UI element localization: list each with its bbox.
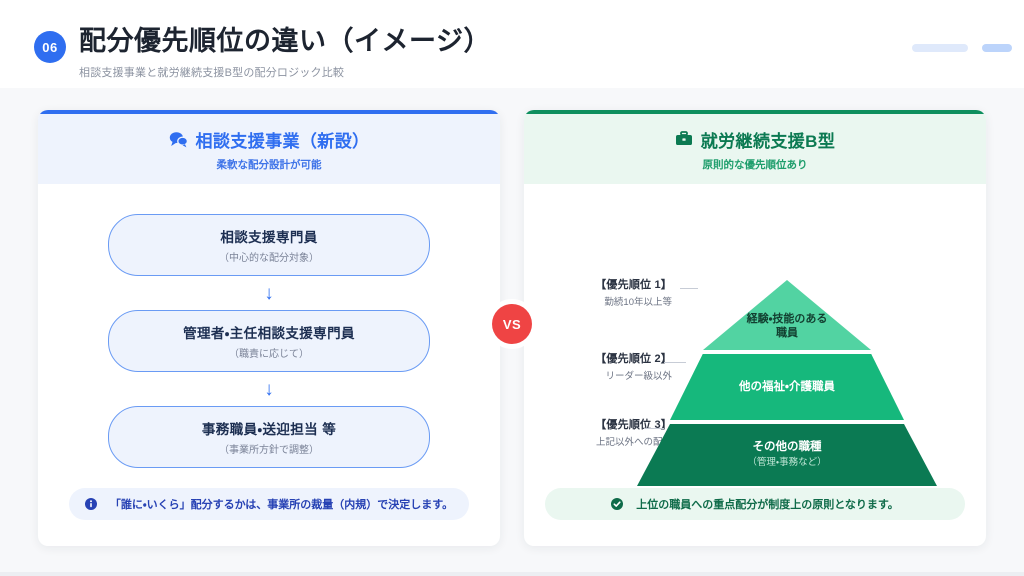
left-card-subtitle: 柔軟な配分設計が可能	[217, 157, 322, 172]
flow-box-2[interactable]: 管理者・主任相談支援専門員 （職責に応じて）	[108, 310, 430, 372]
slide-number-badge: 06	[34, 31, 66, 63]
flow-box-3-sub: （事業所方針で調整）	[219, 441, 319, 456]
pyramid-tier-3[interactable]: その他の職種 （管理・事務など）	[637, 424, 937, 486]
priority-label-1: 【優先順位 1】 勤続10年以上等	[524, 276, 672, 308]
priority-label-2: 【優先順位 2】 リーダー級以外	[524, 350, 672, 382]
left-card-header: 相談支援事業（新設） 柔軟な配分設計が可能	[38, 114, 500, 184]
flow-arrow-1: ↓	[38, 276, 500, 310]
pyramid-tier-3-title: その他の職種	[753, 440, 822, 455]
priority-connector-1	[680, 288, 698, 289]
flow-box-3[interactable]: 事務職員・送迎担当 等 （事業所方針で調整）	[108, 406, 430, 468]
pyramid-tier-1-title: 経験・技能のある 職員	[747, 290, 828, 341]
bottom-strip	[0, 572, 1024, 576]
priority-connector-2	[664, 362, 686, 363]
pyramid-tier-2-title: 他の福祉・介護職員	[739, 380, 835, 395]
left-card-title-row: 相談支援事業（新設）	[169, 127, 370, 152]
right-note-text: 上位の職員への重点配分が制度上の原則となります。	[636, 496, 899, 512]
priority-label-3: 【優先順位 3】 上記以外への配分	[524, 416, 672, 448]
right-card-header: 就労継続支援B型 原則的な優先順位あり	[524, 114, 986, 184]
right-card-title: 就労継続支援B型	[701, 127, 835, 152]
flow-box-1-title: 相談支援専門員	[220, 226, 317, 246]
right-note: 上位の職員への重点配分が制度上の原則となります。	[545, 488, 965, 520]
priority-label-2-sub: リーダー級以外	[524, 368, 672, 382]
priority-label-1-title: 【優先順位 1】	[524, 276, 672, 292]
priority-label-1-sub: 勤続10年以上等	[524, 294, 672, 308]
speech-bubbles-icon	[169, 131, 188, 148]
page-title: 配分優先順位の違い（イメージ）	[79, 26, 491, 58]
priority-label-2-title: 【優先順位 2】	[524, 350, 672, 366]
left-note-text: 「誰に・いくら」配分するかは、事業所の裁量（内規）で決定します。	[110, 496, 453, 512]
page-subtitle: 相談支援事業と就労継続支援B型の配分ロジック比較	[79, 64, 491, 80]
vs-badge: VS	[492, 304, 532, 344]
flow-box-2-sub: （職責に応じて）	[229, 345, 309, 360]
priority-label-3-sub: 上記以外への配分	[524, 434, 672, 448]
left-panel-card: 相談支援事業（新設） 柔軟な配分設計が可能 相談支援専門員 （中心的な配分対象）…	[38, 110, 500, 546]
flow-box-1-sub: （中心的な配分対象）	[219, 249, 319, 264]
info-icon	[85, 498, 97, 510]
slide-header: 06 配分優先順位の違い（イメージ） 相談支援事業と就労継続支援B型の配分ロジッ…	[0, 0, 1024, 88]
priority-label-3-title: 【優先順位 3】	[524, 416, 672, 432]
slide: 06 配分優先順位の違い（イメージ） 相談支援事業と就労継続支援B型の配分ロジッ…	[0, 0, 1024, 576]
left-note: 「誰に・いくら」配分するかは、事業所の裁量（内規）で決定します。	[69, 488, 469, 520]
flow-box-2-title: 管理者・主任相談支援専門員	[183, 322, 355, 342]
flow-arrow-2: ↓	[38, 372, 500, 406]
left-flow: 相談支援専門員 （中心的な配分対象） ↓ 管理者・主任相談支援専門員 （職責に応…	[38, 184, 500, 468]
priority-connector-3	[644, 428, 664, 429]
briefcase-icon	[675, 131, 693, 147]
decorative-bar-light	[912, 44, 968, 52]
priority-pyramid: 【優先順位 1】 勤続10年以上等 【優先順位 2】 リーダー級以外 【優先順位…	[524, 184, 986, 514]
pyramid-tier-1[interactable]: 経験・技能のある 職員	[703, 280, 871, 350]
right-card-subtitle: 原則的な優先順位あり	[703, 157, 808, 172]
right-card-title-row: 就労継続支援B型	[675, 127, 835, 152]
decorative-bar-dark	[982, 44, 1012, 52]
flow-box-1[interactable]: 相談支援専門員 （中心的な配分対象）	[108, 214, 430, 276]
check-circle-icon	[611, 498, 623, 510]
pyramid-tier-2[interactable]: 他の福祉・介護職員	[670, 354, 904, 420]
left-card-title: 相談支援事業（新設）	[196, 127, 370, 152]
right-panel-card: 就労継続支援B型 原則的な優先順位あり 【優先順位 1】 勤続10年以上等 【優…	[524, 110, 986, 546]
pyramid-tier-3-sub: （管理・事務など）	[747, 457, 826, 469]
header-inner: 06 配分優先順位の違い（イメージ） 相談支援事業と就労継続支援B型の配分ロジッ…	[34, 26, 491, 80]
flow-box-3-title: 事務職員・送迎担当 等	[202, 418, 336, 438]
title-wrap: 配分優先順位の違い（イメージ） 相談支援事業と就労継続支援B型の配分ロジック比較	[79, 26, 491, 80]
